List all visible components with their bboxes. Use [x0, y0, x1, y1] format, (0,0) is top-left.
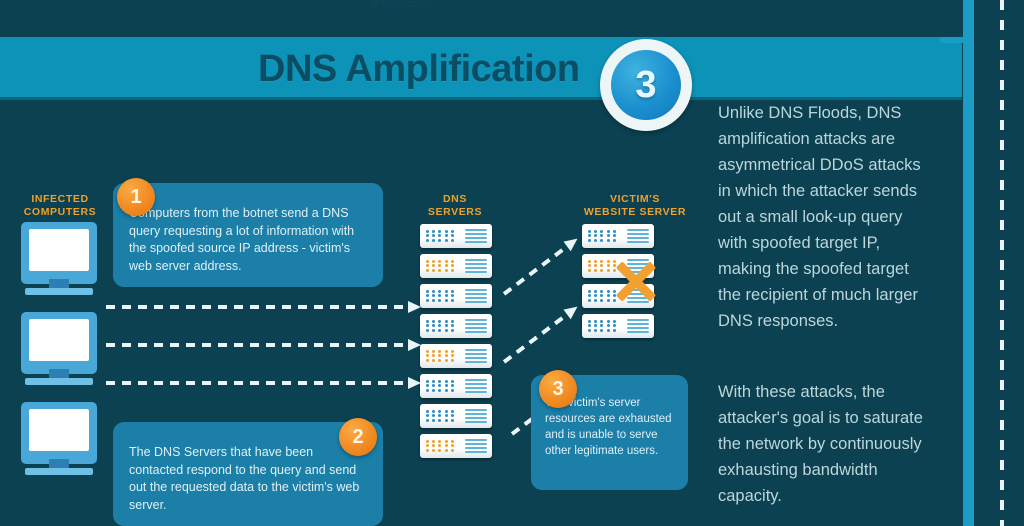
server-slot-bars — [465, 379, 487, 393]
monitor-screen — [29, 229, 89, 271]
server-unit — [420, 314, 492, 338]
caption-victim-server: VICTIM'S WEBSITE SERVER — [574, 193, 696, 219]
arrow-head — [408, 301, 421, 313]
server-slot-bars — [465, 289, 487, 303]
server-indicator-dots — [588, 260, 618, 272]
server-unit — [582, 254, 654, 278]
caption-victim-line1: VICTIM'S — [574, 193, 696, 206]
caption-infected-line2: COMPUTERS — [14, 206, 106, 219]
arrow-line — [503, 312, 569, 363]
arrow-botnet-to-dns-2 — [106, 343, 421, 347]
right-dashed-divider — [1000, 0, 1004, 526]
section-number-badge: 3 — [600, 39, 692, 131]
arrow-line — [106, 305, 409, 309]
monitor-neck — [49, 459, 69, 468]
infected-computer-1 — [21, 222, 97, 300]
arrow-line — [503, 244, 569, 295]
infected-computer-3 — [21, 402, 97, 480]
arrow-line — [106, 381, 409, 385]
monitor-screen — [29, 409, 89, 451]
server-unit — [420, 404, 492, 428]
monitor-base — [25, 288, 93, 295]
section-number-label: 3 — [611, 50, 681, 120]
caption-infected-line1: INFECTED — [14, 193, 106, 206]
server-slot-bars — [627, 289, 649, 303]
monitor-screen — [29, 319, 89, 361]
server-slot-bars — [465, 349, 487, 363]
server-unit — [582, 284, 654, 308]
caption-dns-line1: DNS — [412, 193, 498, 206]
server-slot-bars — [465, 319, 487, 333]
server-indicator-dots — [426, 290, 456, 302]
server-indicator-dots — [426, 410, 456, 422]
infographic-canvas: infosecurity DNS Amplification 3 INFECTE… — [0, 0, 1024, 526]
section-number-badge-inner: 3 — [611, 50, 681, 120]
server-indicator-dots — [588, 290, 618, 302]
server-slot-bars — [465, 229, 487, 243]
server-unit — [582, 314, 654, 338]
server-slot-bars — [627, 319, 649, 333]
caption-dns-line2: SERVERS — [412, 206, 498, 219]
server-unit — [420, 284, 492, 308]
monitor-neck — [49, 279, 69, 288]
server-indicator-dots — [426, 260, 456, 272]
step-1-badge: 1 — [117, 178, 155, 216]
description-paragraph-2: With these attacks, the attacker's goal … — [718, 379, 934, 509]
arrow-dns-to-victim-1 — [503, 237, 579, 296]
step-2-badge: 2 — [339, 418, 377, 456]
server-slot-bars — [627, 259, 649, 273]
step-3-badge: 3 — [539, 370, 577, 408]
server-indicator-dots — [588, 320, 618, 332]
server-slot-bars — [465, 439, 487, 453]
arrow-head — [408, 377, 421, 389]
monitor-base — [25, 468, 93, 475]
arrow-line — [106, 343, 409, 347]
server-indicator-dots — [426, 350, 456, 362]
server-indicator-dots — [426, 230, 456, 242]
server-slot-bars — [465, 409, 487, 423]
server-unit — [420, 254, 492, 278]
arrow-dns-to-victim-2 — [503, 305, 579, 364]
server-indicator-dots — [426, 440, 456, 452]
watermark-text: infosecurity — [372, 0, 512, 14]
server-unit — [420, 434, 492, 458]
caption-infected-computers: INFECTED COMPUTERS — [14, 193, 106, 219]
monitor-base — [25, 378, 93, 385]
caption-victim-line2: WEBSITE SERVER — [574, 206, 696, 219]
server-slot-bars — [627, 229, 649, 243]
server-indicator-dots — [426, 380, 456, 392]
server-unit — [420, 374, 492, 398]
server-unit — [420, 224, 492, 248]
infected-computer-2 — [21, 312, 97, 390]
server-indicator-dots — [426, 320, 456, 332]
arrow-head — [408, 339, 421, 351]
server-indicator-dots — [588, 230, 618, 242]
server-unit — [420, 344, 492, 368]
arrow-botnet-to-dns-3 — [106, 381, 421, 385]
server-slot-bars — [465, 259, 487, 273]
right-cyan-rail — [963, 0, 974, 526]
monitor-neck — [49, 369, 69, 378]
server-unit — [582, 224, 654, 248]
page-title: DNS Amplification — [258, 48, 580, 91]
description-paragraph-1: Unlike DNS Floods, DNS amplification att… — [718, 100, 934, 334]
caption-dns-servers: DNS SERVERS — [412, 193, 498, 219]
arrow-botnet-to-dns-1 — [106, 305, 421, 309]
